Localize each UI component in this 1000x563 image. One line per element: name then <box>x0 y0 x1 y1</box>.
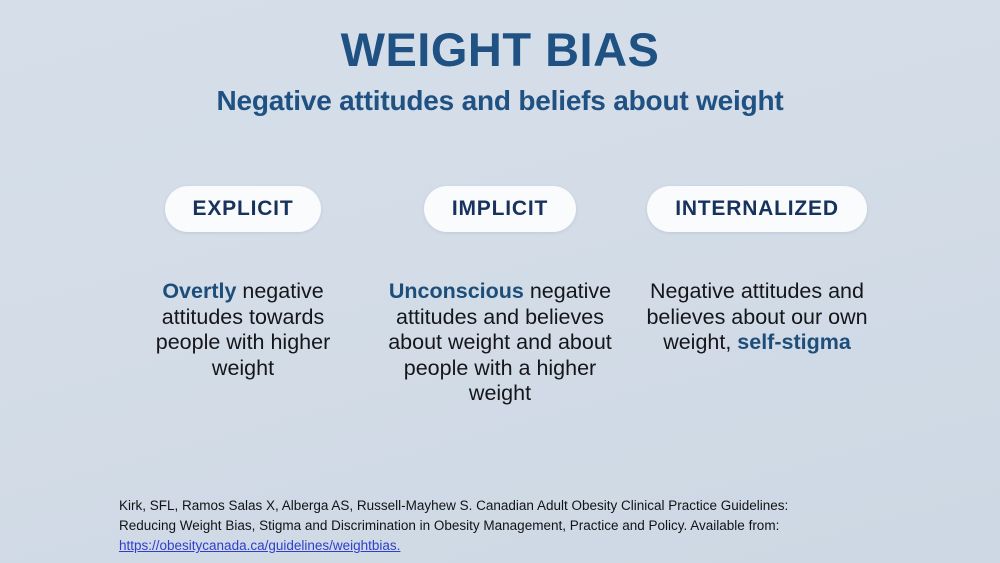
page-title: WEIGHT BIAS <box>0 22 1000 78</box>
badge-internalized: INTERNALIZED <box>647 186 867 232</box>
description-explicit-highlight: Overtly <box>162 279 236 303</box>
page-subtitle: Negative attitudes and beliefs about wei… <box>0 84 1000 118</box>
citation-link[interactable]: https://obesitycanada.ca/guidelines/weig… <box>119 538 400 553</box>
citation-line-1: Kirk, SFL, Ramos Salas X, Alberga AS, Ru… <box>119 496 909 516</box>
description-implicit-highlight: Unconscious <box>389 279 524 303</box>
column-internalized: INTERNALIZED Negative attitudes and beli… <box>632 186 882 356</box>
badge-implicit: IMPLICIT <box>424 186 576 232</box>
badge-explicit: EXPLICIT <box>165 186 322 232</box>
description-implicit: Unconscious negative attitudes and belie… <box>380 279 620 407</box>
description-internalized-highlight: self-stigma <box>737 330 851 354</box>
title-block: WEIGHT BIAS Negative attitudes and belie… <box>0 22 1000 118</box>
slide-canvas: WEIGHT BIAS Negative attitudes and belie… <box>0 0 1000 563</box>
column-explicit: EXPLICIT Overtly negative attitudes towa… <box>118 186 368 381</box>
column-implicit: IMPLICIT Unconscious negative attitudes … <box>375 186 625 407</box>
description-internalized: Negative attitudes and believes about ou… <box>633 279 881 356</box>
concept-columns: EXPLICIT Overtly negative attitudes towa… <box>118 186 882 407</box>
description-explicit: Overtly negative attitudes towards peopl… <box>143 279 343 381</box>
citation-line-2: Reducing Weight Bias, Stigma and Discrim… <box>119 516 909 536</box>
citation: Kirk, SFL, Ramos Salas X, Alberga AS, Ru… <box>119 496 909 556</box>
